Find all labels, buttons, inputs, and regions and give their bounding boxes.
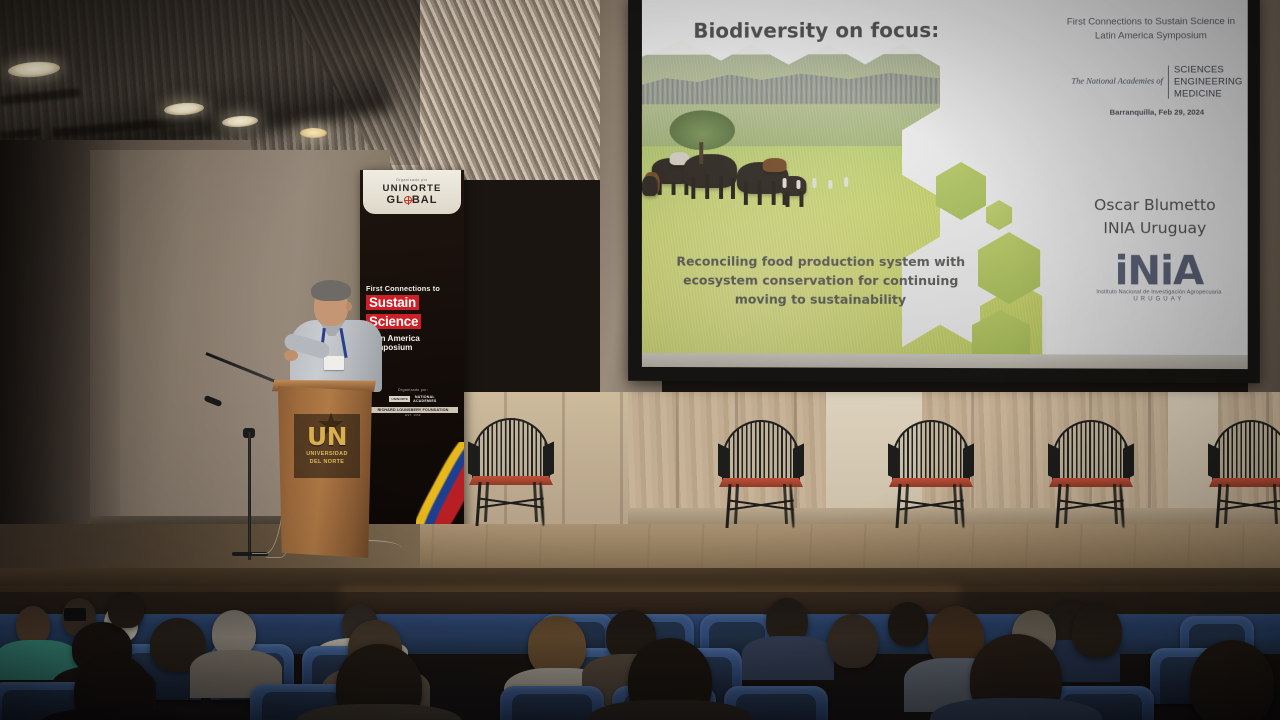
inia-wordmark: iNiA <box>1078 252 1239 290</box>
inia-institute-name: Instituto Nacional de Investigación Agro… <box>1078 289 1239 295</box>
left-wall-shadow <box>0 140 120 560</box>
speaker-affiliation: INIA Uruguay <box>1054 217 1248 241</box>
chair-armrest <box>793 443 804 480</box>
slide-date-location: Barranquilla, Feb 29, 2024 <box>1070 108 1243 117</box>
un-wordmark: UN <box>307 426 347 449</box>
chair-armrest <box>888 443 899 480</box>
chair-armrest <box>1048 443 1059 480</box>
inia-country: URUGUAY <box>1078 296 1239 302</box>
projection-screen-surface: Biodiversity on focus: First Connections… <box>642 0 1248 369</box>
name-badge <box>324 356 344 370</box>
chair-leg <box>475 482 481 526</box>
speaker-person <box>288 280 384 390</box>
stage-chair <box>468 418 554 526</box>
audience-shoulders <box>742 636 834 680</box>
audience-area <box>0 592 1280 720</box>
global-suffix: BAL <box>412 194 438 206</box>
chair-leg <box>959 484 965 528</box>
audience-head <box>1190 640 1274 720</box>
chair-back <box>472 418 550 480</box>
uninorte-text: UNINORTE <box>383 183 442 194</box>
foundation-established: EST. 1959 <box>368 414 458 417</box>
microphone-stand <box>248 432 251 560</box>
chair-leg <box>904 484 909 524</box>
division-sciences: SCIENCES <box>1174 63 1243 75</box>
academies-divisions: SCIENCES ENGINEERING MEDICINE <box>1174 63 1243 99</box>
audience-head <box>528 616 586 676</box>
stage-chair <box>1208 420 1280 528</box>
speaker-credit: Oscar Blumetto INIA Uruguay <box>1054 194 1248 241</box>
audience-head <box>16 606 50 644</box>
chair-leg <box>1055 484 1061 528</box>
global-text: GLBAL <box>387 194 438 206</box>
banner-top-caption: Organizado por <box>396 178 428 182</box>
chair-leg <box>895 484 901 528</box>
slide-title: Biodiversity on focus: <box>693 18 939 43</box>
symposium-title: First Connections to Sustain Science in … <box>1060 15 1241 44</box>
stage-chair <box>888 420 974 528</box>
banner-organizers: Organizado por: UNINORTE NATIONAL ACADEM… <box>368 388 458 417</box>
speaker-ear <box>346 302 352 311</box>
chair-back <box>722 420 800 482</box>
academies-prefix: The National Academies of <box>1071 76 1162 87</box>
chair-leg <box>734 484 739 524</box>
national-academies-logo: The National Academies of SCIENCES ENGIN… <box>1070 63 1243 100</box>
chair-armrest <box>543 441 554 478</box>
audience-head <box>888 602 928 646</box>
chair-armrest <box>468 441 479 478</box>
chair-armrest <box>1208 443 1219 480</box>
chair-leg <box>789 484 795 528</box>
audience-head <box>828 614 878 668</box>
chair-leg <box>484 482 489 522</box>
division-engineering: ENGINEERING <box>1174 75 1243 87</box>
chair-leg <box>533 482 538 522</box>
chair-leg <box>783 484 788 524</box>
university-name: UNIVERSIDAD DEL NORTE <box>306 451 348 466</box>
audience-head <box>1072 604 1122 658</box>
auditorium-scene: Biodiversity on focus: First Connections… <box>0 0 1280 720</box>
presentation-slide: Biodiversity on focus: First Connections… <box>642 0 1248 369</box>
university-line-1: UNIVERSIDAD <box>306 451 348 458</box>
logo-divider <box>1168 65 1169 98</box>
chair-back <box>1212 420 1280 482</box>
ceiling-light-icon <box>300 128 327 138</box>
projection-screen: Biodiversity on focus: First Connections… <box>628 0 1260 383</box>
stage-chair <box>1048 420 1134 528</box>
chair-back <box>1052 420 1130 482</box>
university-line-2: DEL NORTE <box>306 459 348 466</box>
uninorte-global-logo: Organizado por UNINORTE GLBAL <box>363 170 461 214</box>
organizer-foundation-logo: RICHARD LOUNSBERY FOUNDATION <box>368 407 458 413</box>
chair-armrest <box>963 443 974 480</box>
chair-leg <box>539 482 545 526</box>
inia-logo: iNiA Instituto Nacional de Investigación… <box>1078 252 1239 303</box>
chair-back <box>892 420 970 482</box>
speaker-name: Oscar Blumetto <box>1054 194 1248 217</box>
organizer-uninorte-logo: UNINORTE <box>389 396 410 402</box>
chair-leg <box>1113 484 1118 524</box>
slide-bottom-strip <box>642 353 1248 369</box>
division-medicine: MEDICINE <box>1174 87 1243 99</box>
chair-leg <box>725 484 731 528</box>
chair-leg <box>1064 484 1069 524</box>
podium-logo-plate: UN UNIVERSIDAD DEL NORTE <box>294 414 360 478</box>
speaker-hand <box>284 350 298 361</box>
slide-subtitle: Reconciling food production system with … <box>664 252 978 310</box>
stage-chair <box>718 420 804 528</box>
chair-leg <box>1273 484 1278 524</box>
chair-leg <box>1215 484 1221 528</box>
academies-line-2: ACADEMIES <box>413 399 436 403</box>
phone-icon <box>64 608 86 621</box>
global-prefix: GL <box>387 194 404 206</box>
chair-armrest <box>1123 443 1134 480</box>
organizers-row: UNINORTE NATIONAL ACADEMIES <box>368 395 458 403</box>
chair-leg <box>953 484 958 524</box>
chair-leg <box>1224 484 1229 524</box>
speaker-hair <box>311 280 351 301</box>
organizer-academies-logo: NATIONAL ACADEMIES <box>413 395 436 403</box>
globe-icon <box>404 196 412 204</box>
chair-leg <box>1119 484 1125 528</box>
audience-head <box>108 592 144 628</box>
chair-armrest <box>718 443 729 480</box>
